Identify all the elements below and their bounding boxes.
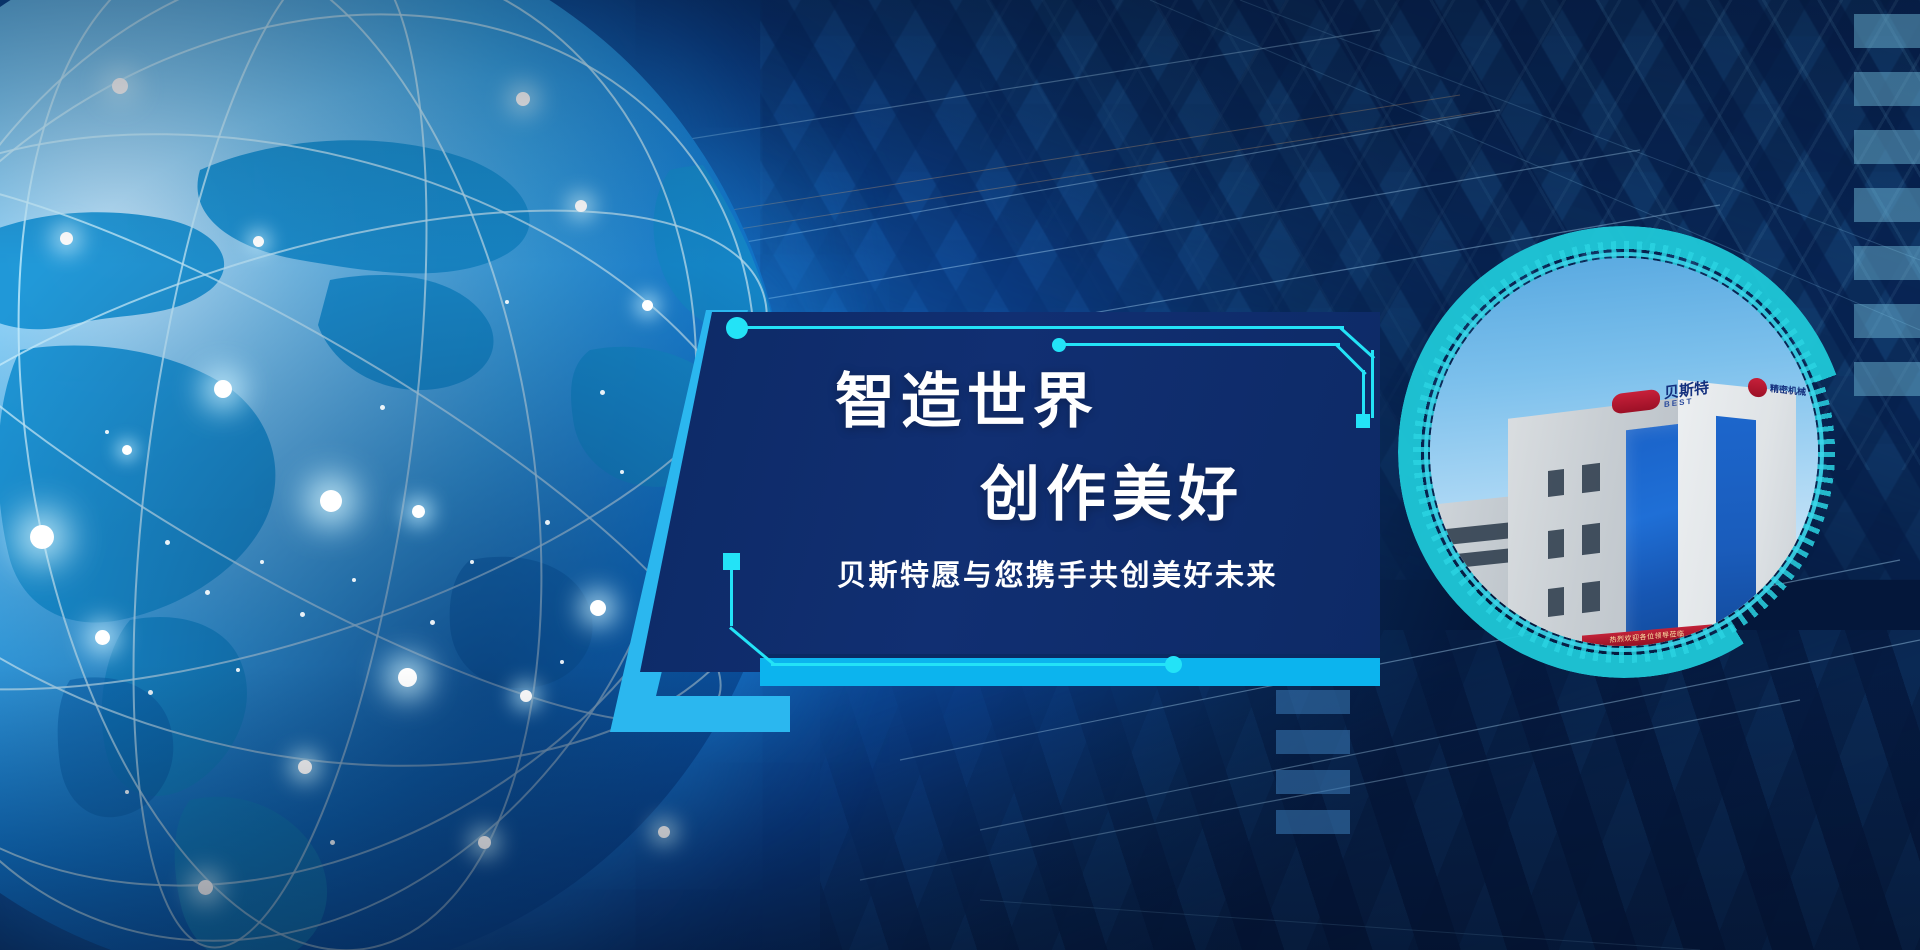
ring-inner-border bbox=[1424, 252, 1824, 652]
headline-line-2: 创作美好 bbox=[980, 465, 1244, 525]
circular-photo-frame: 贝斯特 BEST 精密机械 热烈欢迎各位领导莅临 bbox=[1398, 226, 1850, 678]
hero-banner: 智造世界 创作美好 贝斯特愿与您携手共创美好未来 贝斯特 bbox=[0, 0, 1920, 950]
tagline: 贝斯特愿与您携手共创美好未来 bbox=[837, 562, 1278, 591]
headline-line-1: 智造世界 bbox=[835, 372, 1099, 432]
